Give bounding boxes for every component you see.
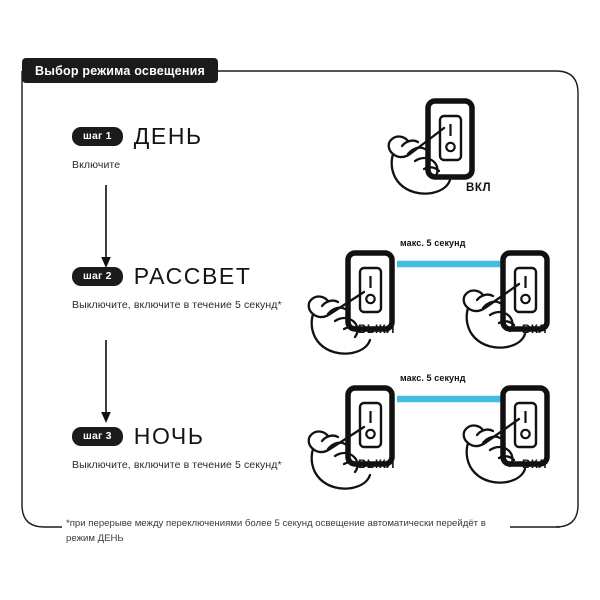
- timing-label-3: макс. 5 секунд: [400, 373, 466, 383]
- switch-state-label-1-1: ВКЛ: [466, 182, 491, 194]
- step-block-1: шаг 1 ДЕНЬ Включите: [72, 125, 203, 171]
- infographic-canvas: Выбор режима освещения шаг 1 ДЕНЬ Включи…: [0, 0, 600, 600]
- switch-plate-icon-1: [428, 101, 472, 177]
- footnote-text: *при перерыве между переключениями более…: [62, 517, 510, 547]
- step-header-3: шаг 3 НОЧЬ: [72, 425, 282, 448]
- step-description-3: Выключите, включите в течение 5 секунд*: [72, 459, 282, 471]
- step-title-2: РАССВЕТ: [134, 265, 252, 288]
- step-block-3: шаг 3 НОЧЬ Выключите, включите в течение…: [72, 425, 282, 471]
- hand-switch-on-1: [380, 98, 540, 208]
- step-badge-3: шаг 3: [72, 427, 123, 446]
- illustration-step-1: ВКЛ: [380, 98, 540, 208]
- step-badge-1: шаг 1: [72, 127, 123, 146]
- switch-state-label-2-1: ВЫКЛ: [358, 324, 395, 336]
- hand-switch-on-3: [455, 385, 600, 495]
- step-header-2: шаг 2 РАССВЕТ: [72, 265, 282, 288]
- timing-label-2: макс. 5 секунд: [400, 238, 466, 248]
- step-title-1: ДЕНЬ: [134, 125, 203, 148]
- step-block-2: шаг 2 РАССВЕТ Выключите, включите в тече…: [72, 265, 282, 311]
- page-title-banner: Выбор режима освещения: [22, 58, 218, 83]
- page-title: Выбор режима освещения: [35, 64, 205, 78]
- step-badge-2: шаг 2: [72, 267, 123, 286]
- switch-plate-icon-3-off: [348, 388, 392, 464]
- flow-arrow-down-icon-2: [98, 340, 114, 424]
- switch-state-label-3-2: ВКЛ: [522, 459, 547, 471]
- illustration-step-2: ВЫКЛ макс. 5 секунд: [300, 238, 570, 348]
- step-description-2: Выключите, включите в течение 5 секунд*: [72, 299, 282, 311]
- switch-state-label-3-1: ВЫКЛ: [358, 459, 395, 471]
- switch-state-label-2-2: ВКЛ: [522, 324, 547, 336]
- step-description-1: Включите: [72, 159, 203, 171]
- illustration-step-3: ВЫКЛ макс. 5 секунд: [300, 373, 570, 483]
- flow-arrow-down-icon-1: [98, 185, 114, 269]
- step-title-3: НОЧЬ: [134, 425, 205, 448]
- switch-plate-icon-2-off: [348, 253, 392, 329]
- hand-switch-on-2: [455, 250, 600, 360]
- step-header-1: шаг 1 ДЕНЬ: [72, 125, 203, 148]
